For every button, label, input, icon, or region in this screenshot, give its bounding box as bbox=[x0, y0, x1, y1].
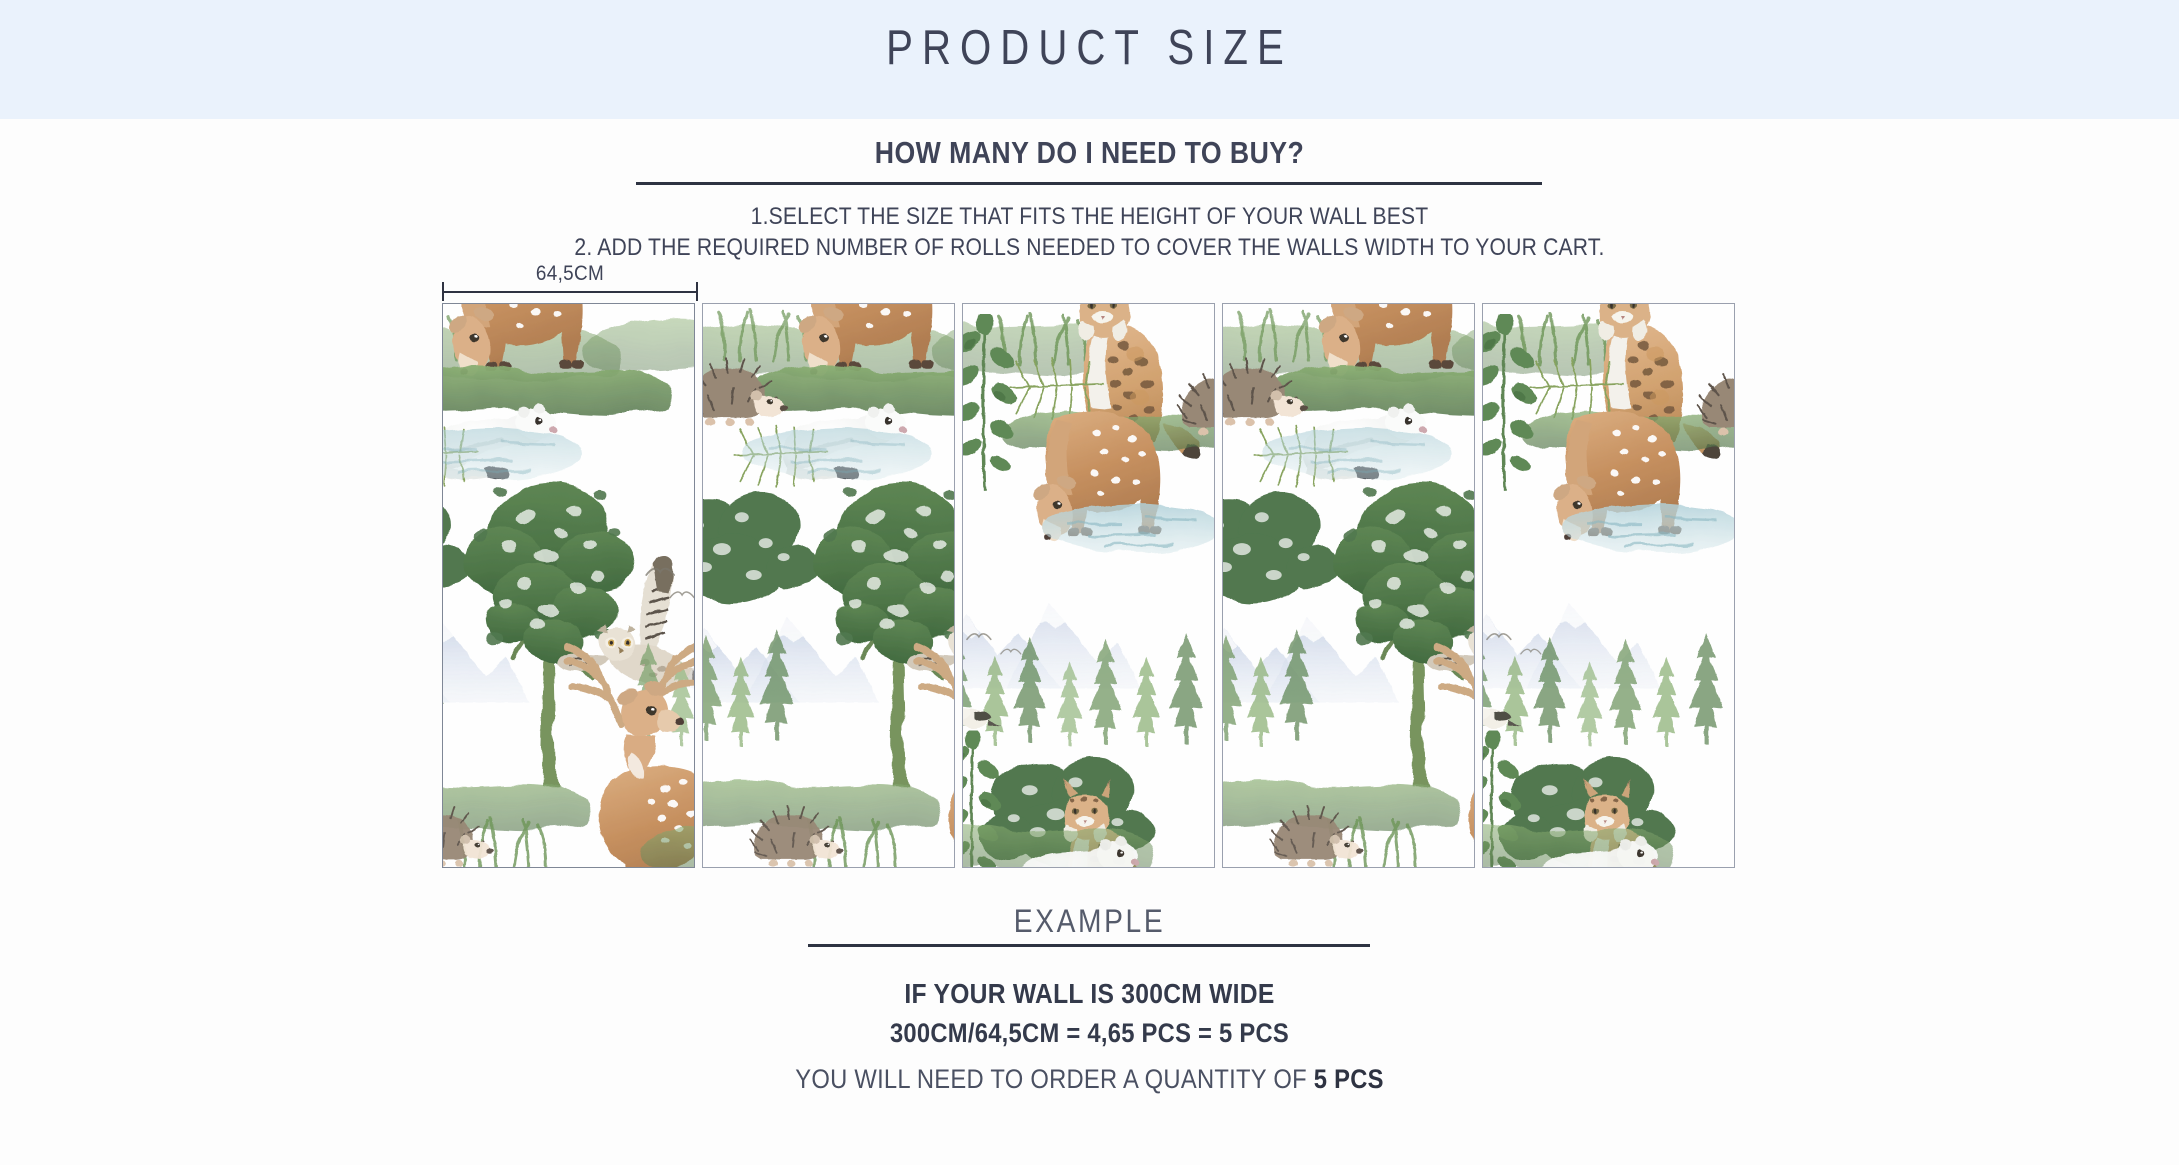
wallpaper-panel-5[interactable] bbox=[1482, 303, 1735, 868]
wallpaper-panel-4[interactable] bbox=[1222, 303, 1475, 868]
heading-divider bbox=[636, 182, 1542, 185]
wallpaper-panel-2[interactable] bbox=[702, 303, 955, 868]
example-wall-width: IF YOUR WALL IS 300CM WIDE bbox=[131, 978, 2049, 1010]
panel-1-artwork bbox=[443, 304, 694, 867]
wallpaper-panel-strip bbox=[442, 303, 1735, 868]
panel-3-artwork bbox=[963, 304, 1214, 867]
example-calculation: 300CM/64,5CM = 4,65 PCS = 5 PCS bbox=[131, 1018, 2049, 1049]
dimension-label: 64,5CM bbox=[455, 262, 685, 286]
instruction-step-1: 1.SELECT THE SIZE THAT FITS THE HEIGHT O… bbox=[131, 203, 2049, 231]
dimension-tick-left bbox=[442, 282, 444, 301]
example-order-quantity: YOU WILL NEED TO ORDER A QUANTITY OF 5 P… bbox=[131, 1064, 2049, 1095]
example-divider bbox=[808, 944, 1370, 947]
example-order-prefix: YOU WILL NEED TO ORDER A QUANTITY OF bbox=[795, 1064, 1314, 1094]
dimension-line bbox=[442, 291, 698, 293]
dimension-tick-right bbox=[696, 282, 698, 301]
page-title: PRODUCT SIZE bbox=[196, 20, 1983, 76]
panel-5-artwork bbox=[1483, 304, 1734, 867]
panel-2-artwork bbox=[703, 304, 954, 867]
example-order-value: 5 PCS bbox=[1314, 1064, 1384, 1094]
panel-4-artwork bbox=[1223, 304, 1474, 867]
example-heading: EXAMPLE bbox=[131, 903, 2049, 940]
wallpaper-panel-3[interactable] bbox=[962, 303, 1215, 868]
section-heading-how-many: HOW MANY DO I NEED TO BUY? bbox=[153, 135, 2027, 171]
wallpaper-panel-1[interactable] bbox=[442, 303, 695, 868]
instruction-step-2: 2. ADD THE REQUIRED NUMBER OF ROLLS NEED… bbox=[131, 234, 2049, 262]
